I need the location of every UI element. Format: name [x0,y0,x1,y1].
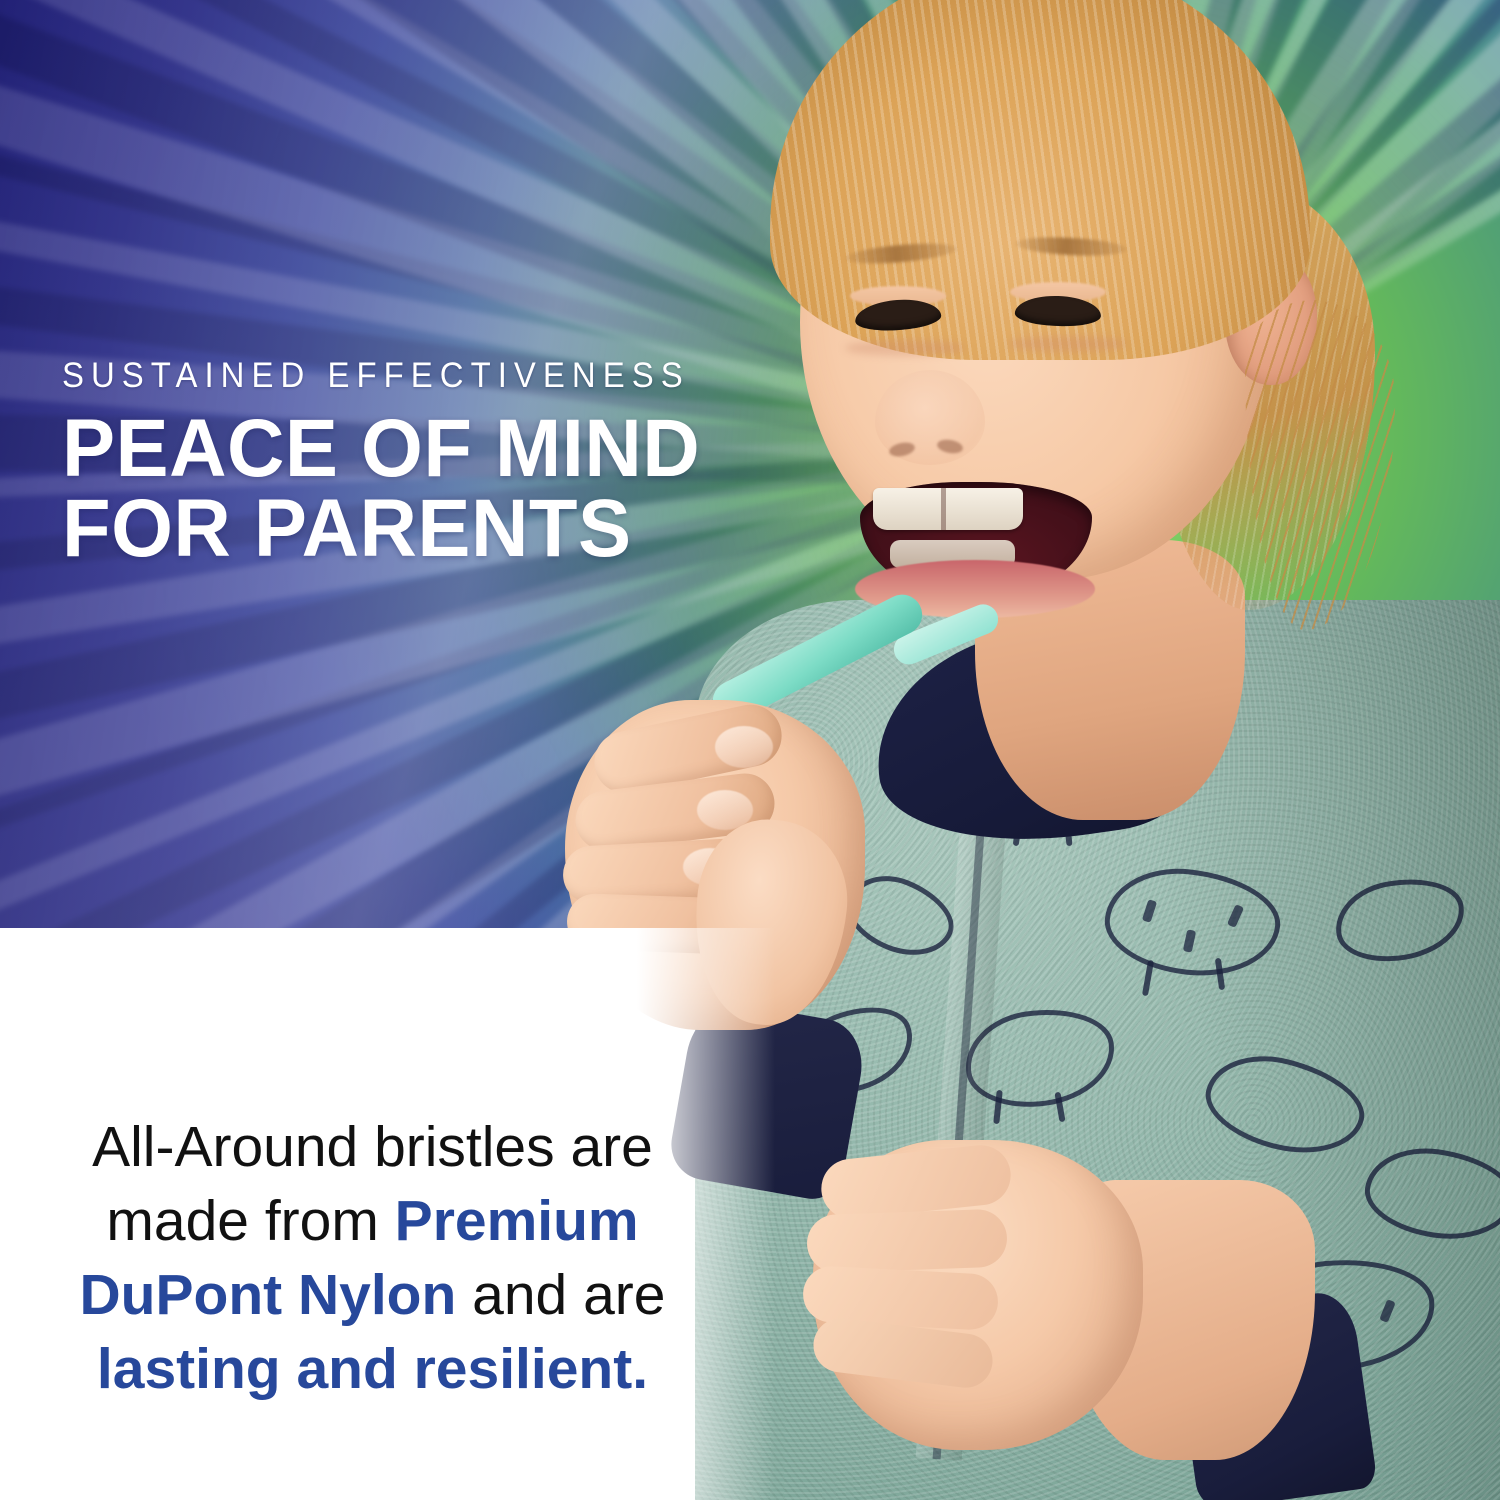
body-line-2: made from Premium [0,1184,745,1258]
body-copy: All-Around bristles are made from Premiu… [0,1110,745,1406]
page-title: PEACE OF MIND FOR PARENTS [62,409,741,568]
headline-block: SUSTAINED EFFECTIVENESS PEACE OF MIND FO… [62,358,762,568]
child-upper-teeth [873,488,1023,530]
eyebrow-text: SUSTAINED EFFECTIVENESS [62,358,720,393]
marketing-image: SUSTAINED EFFECTIVENESS PEACE OF MIND FO… [0,0,1500,1500]
body-line-1: All-Around bristles are [0,1110,745,1184]
child-fingernail [715,726,773,768]
child-cheek [1007,336,1127,352]
child-tooth-gap [941,488,946,530]
child-finger [806,1209,1008,1274]
child-cheek [845,340,965,356]
headline-line-1: PEACE OF MIND [62,403,700,494]
body-line-3: DuPont Nylon and are [0,1258,745,1332]
body-line-4: lasting and resilient. [0,1332,745,1406]
headline-line-2: FOR PARENTS [62,489,741,569]
